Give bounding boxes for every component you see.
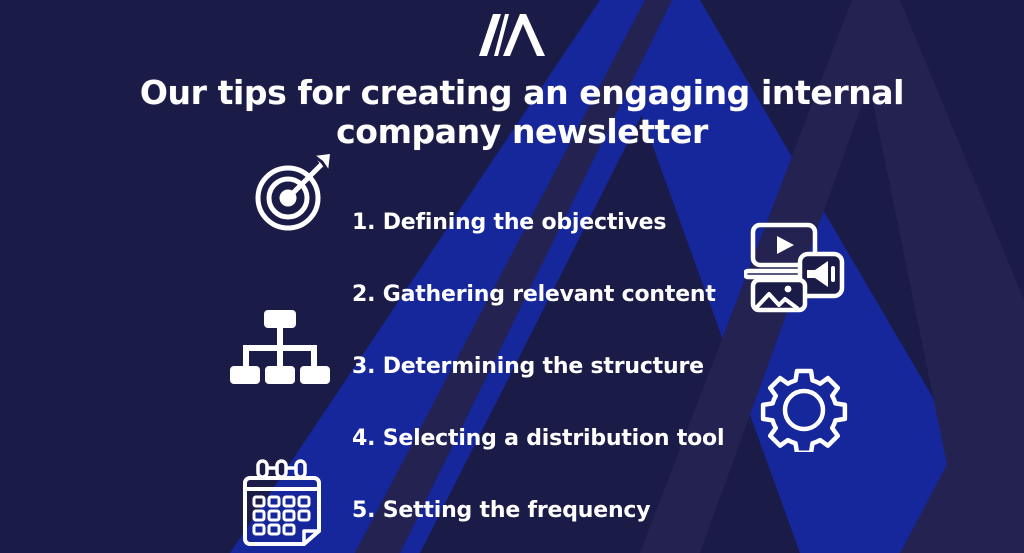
brand-logo xyxy=(0,14,1024,56)
tip-number-2: 2. xyxy=(352,282,383,307)
slash-lambda-logo-icon xyxy=(479,14,545,56)
tip-label-2: 2. Gathering relevant content xyxy=(352,282,716,307)
list-item: 5. Setting the frequency xyxy=(0,474,1024,546)
tip-number-4: 4. xyxy=(352,426,383,451)
tip-title-5: Setting the frequency xyxy=(383,498,651,523)
tip-title-3: Determining the structure xyxy=(383,354,704,379)
list-item: 4. Selecting a distribution tool xyxy=(0,402,1024,474)
slide-canvas: Our tips for creating an engaging intern… xyxy=(0,0,1024,553)
tip-title-4: Selecting a distribution tool xyxy=(383,426,725,451)
tip-number-1: 1. xyxy=(352,210,383,235)
tip-number-5: 5. xyxy=(352,498,383,523)
tip-label-3: 3. Determining the structure xyxy=(352,354,704,379)
tip-number-3: 3. xyxy=(352,354,383,379)
tip-title-1: Defining the objectives xyxy=(383,210,667,235)
tips-list: 1. Defining the objectives 2. Gathering … xyxy=(0,186,1024,546)
page-title: Our tips for creating an engaging intern… xyxy=(62,74,982,152)
tip-label-4: 4. Selecting a distribution tool xyxy=(352,426,724,451)
list-item: 3. Determining the structure xyxy=(0,330,1024,402)
tip-label-5: 5. Setting the frequency xyxy=(352,498,650,523)
list-item: 2. Gathering relevant content xyxy=(0,258,1024,330)
tip-label-1: 1. Defining the objectives xyxy=(352,210,666,235)
list-item: 1. Defining the objectives xyxy=(0,186,1024,258)
tip-title-2: Gathering relevant content xyxy=(383,282,716,307)
